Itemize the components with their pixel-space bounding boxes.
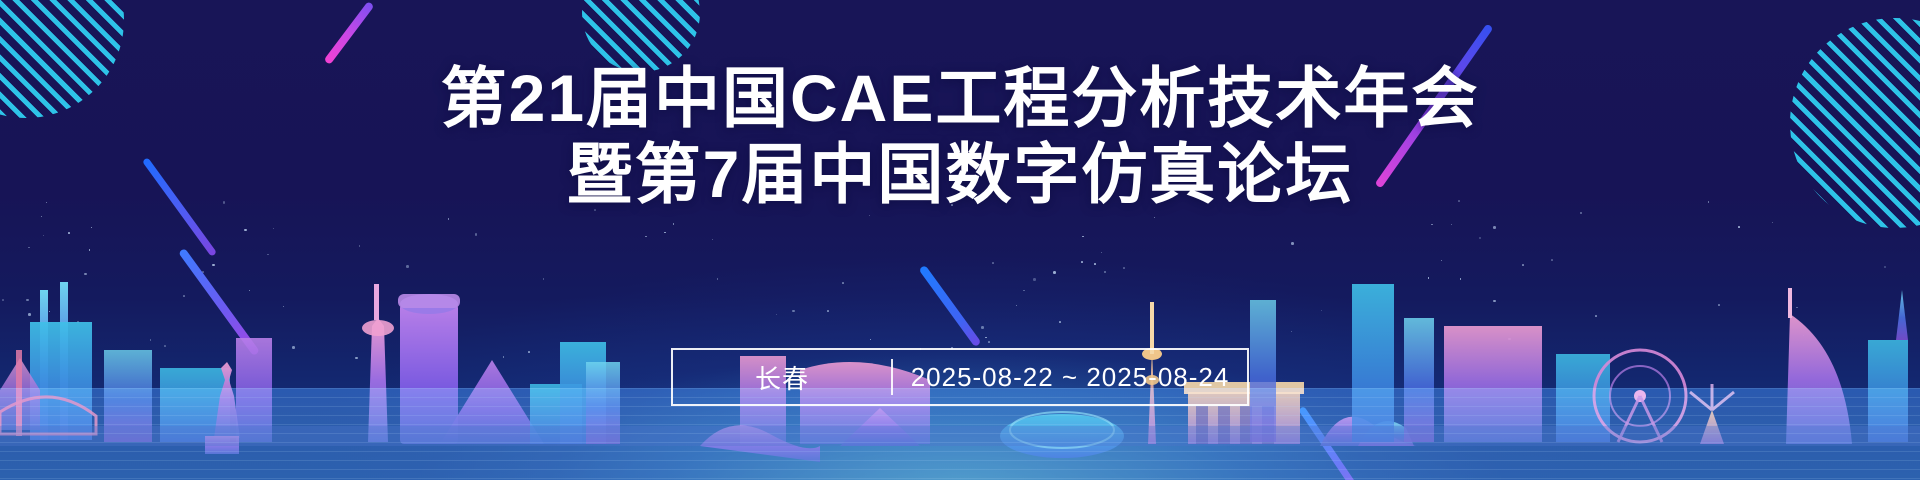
star-dot xyxy=(673,223,675,225)
title-line-1: 第21届中国CAE工程分析技术年会 xyxy=(0,60,1920,136)
conference-banner: 第21届中国CAE工程分析技术年会 暨第7届中国数字仿真论坛 长春 2025-0… xyxy=(0,0,1920,480)
star-dot xyxy=(1738,226,1740,228)
star-dot xyxy=(869,215,871,217)
star-dot xyxy=(273,228,275,230)
event-location: 长春 xyxy=(673,359,891,396)
star-dot xyxy=(91,227,93,229)
title-line-2: 暨第7届中国数字仿真论坛 xyxy=(0,136,1920,212)
event-date-range: 2025-08-22 ~ 2025-08-24 xyxy=(893,362,1247,393)
event-info-box: 长春 2025-08-22 ~ 2025-08-24 xyxy=(671,348,1249,406)
banner-title: 第21届中国CAE工程分析技术年会 暨第7届中国数字仿真论坛 xyxy=(0,60,1920,212)
star-dot xyxy=(1154,217,1156,219)
star-dot xyxy=(1493,226,1496,229)
star-dot xyxy=(41,216,43,218)
star-dot xyxy=(1772,222,1774,224)
star-dot xyxy=(448,218,450,220)
star-dot xyxy=(1431,224,1433,226)
star-dot xyxy=(1451,224,1453,226)
